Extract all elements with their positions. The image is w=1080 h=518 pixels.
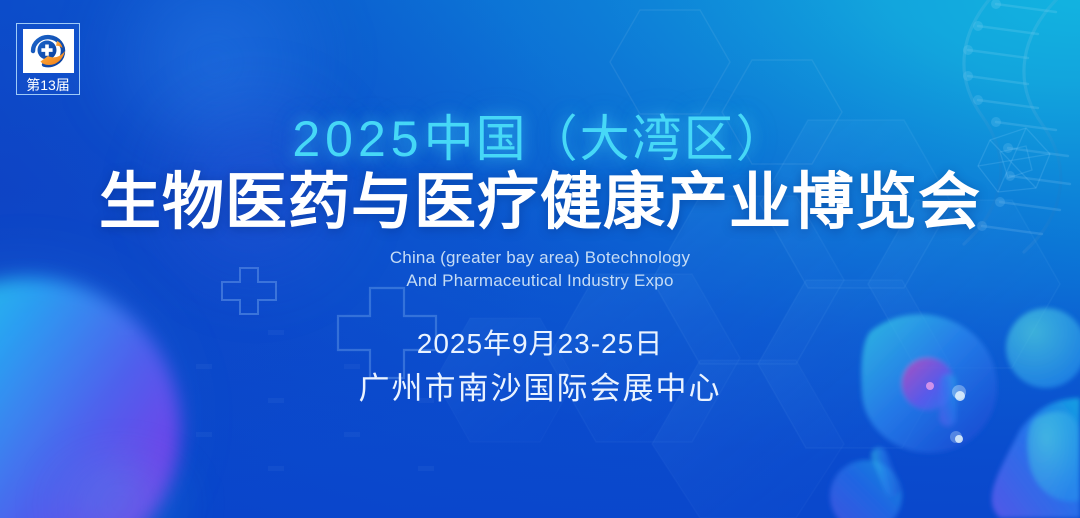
badge-edition-label: 第13届 xyxy=(17,74,79,95)
event-venue: 广州市南沙国际会展中心 xyxy=(0,373,1080,404)
event-date: 2025年9月23-25日 xyxy=(0,330,1080,358)
emblem-svg xyxy=(27,32,71,70)
medical-globe-emblem-icon xyxy=(23,29,74,73)
headline-year: 2025 xyxy=(292,111,423,167)
headline-region: 中国（大湾区） xyxy=(424,111,788,167)
headline-year-region: 2025中国（大湾区） xyxy=(0,114,1080,164)
english-subtitle-line-1: China (greater bay area) Botechnology xyxy=(0,246,1080,269)
page-title: 生物医药与医疗健康产业博览会 xyxy=(0,172,1080,234)
event-edition-badge[interactable]: 第13届 xyxy=(16,23,80,95)
event-poster: 第13届 2025中国（大湾区） 生物医药与医疗健康产业博览会 China (g… xyxy=(0,0,1080,518)
english-subtitle-line-2: And Pharmaceutical Industry Expo xyxy=(0,269,1080,292)
english-subtitle: China (greater bay area) Botechnology An… xyxy=(0,246,1080,292)
